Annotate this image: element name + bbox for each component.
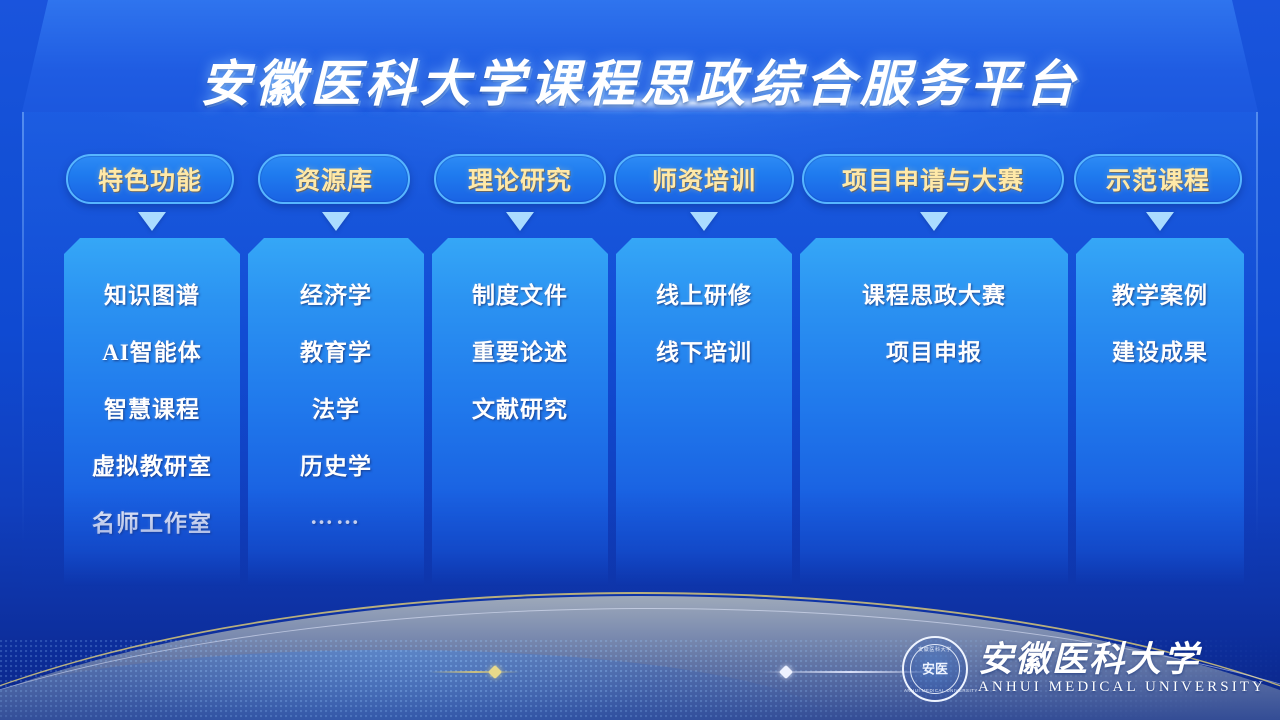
category-card-project-application-competition[interactable]: 课程思政大赛项目申报 bbox=[800, 238, 1068, 586]
diamond-marker-gold bbox=[488, 665, 502, 679]
category-card-teacher-training[interactable]: 线上研修线下培训 bbox=[616, 238, 792, 586]
card-item-list: 教学案例建设成果 bbox=[1076, 276, 1244, 367]
category-card-resource-library[interactable]: 经济学教育学法学历史学…… bbox=[248, 238, 424, 586]
category-card-demonstration-courses[interactable]: 教学案例建设成果 bbox=[1076, 238, 1244, 586]
list-item[interactable]: 线下培训 bbox=[656, 333, 752, 367]
list-item[interactable]: 经济学 bbox=[300, 276, 372, 310]
page-title: 安徽医科大学课程思政综合服务平台 bbox=[0, 44, 1280, 116]
list-item[interactable]: 智慧课程 bbox=[104, 390, 200, 424]
chevron-down-icon bbox=[690, 212, 718, 231]
category-header-demonstration-courses[interactable]: 示范课程 bbox=[1074, 154, 1242, 204]
list-item[interactable]: 教学案例 bbox=[1112, 276, 1208, 310]
logo-name-chinese: 安徽医科大学 bbox=[978, 642, 1266, 678]
list-item[interactable]: 历史学 bbox=[300, 447, 372, 481]
logo-name-english: ANHUI MEDICAL UNIVERSITY bbox=[978, 679, 1266, 696]
diamond-marker-white bbox=[779, 665, 793, 679]
slide-canvas: 安徽医科大学课程思政综合服务平台 特色功能知识图谱AI智能体智慧课程虚拟教研室名… bbox=[0, 0, 1280, 720]
list-item[interactable]: 制度文件 bbox=[472, 276, 568, 310]
list-item[interactable]: AI智能体 bbox=[102, 333, 202, 367]
list-item[interactable]: 名师工作室 bbox=[92, 504, 212, 538]
seal-arc-bottom-text: ANHUI MEDICAL UNIVERSITY bbox=[904, 688, 966, 693]
list-item[interactable]: 课程思政大赛 bbox=[862, 276, 1006, 310]
university-seal-icon: 安徽医科大学 安医 ANHUI MEDICAL UNIVERSITY bbox=[902, 636, 968, 702]
list-item[interactable]: 知识图谱 bbox=[104, 276, 200, 310]
university-logo: 安徽医科大学 安医 ANHUI MEDICAL UNIVERSITY 安徽医科大… bbox=[902, 636, 1266, 702]
list-item[interactable]: 建设成果 bbox=[1112, 333, 1208, 367]
seal-arc-top-text: 安徽医科大学 bbox=[904, 646, 966, 653]
chevron-down-icon bbox=[138, 212, 166, 231]
category-card-theoretical-research[interactable]: 制度文件重要论述文献研究 bbox=[432, 238, 608, 586]
category-header-resource-library[interactable]: 资源库 bbox=[258, 154, 410, 204]
chevron-down-icon bbox=[1146, 212, 1174, 231]
list-item[interactable]: 文献研究 bbox=[472, 390, 568, 424]
horizon-line-gold bbox=[430, 671, 520, 673]
list-item[interactable]: 项目申报 bbox=[886, 333, 982, 367]
seal-center-text: 安医 bbox=[922, 663, 948, 676]
category-header-special-features[interactable]: 特色功能 bbox=[66, 154, 234, 204]
card-item-list: 经济学教育学法学历史学…… bbox=[248, 276, 424, 530]
category-card-special-features[interactable]: 知识图谱AI智能体智慧课程虚拟教研室名师工作室 bbox=[64, 238, 240, 586]
list-item[interactable]: 线上研修 bbox=[656, 276, 752, 310]
chevron-down-icon bbox=[506, 212, 534, 231]
card-item-list: 制度文件重要论述文献研究 bbox=[432, 276, 608, 424]
chevron-down-icon bbox=[322, 212, 350, 231]
chevron-down-icon bbox=[920, 212, 948, 231]
background-wave bbox=[0, 650, 840, 720]
category-header-teacher-training[interactable]: 师资培训 bbox=[614, 154, 794, 204]
list-item[interactable]: 法学 bbox=[312, 390, 360, 424]
card-item-list: 课程思政大赛项目申报 bbox=[800, 276, 1068, 367]
card-item-list: 知识图谱AI智能体智慧课程虚拟教研室名师工作室 bbox=[64, 276, 240, 538]
logo-wordmark: 安徽医科大学 ANHUI MEDICAL UNIVERSITY bbox=[978, 642, 1266, 696]
list-item[interactable]: 虚拟教研室 bbox=[92, 447, 212, 481]
category-header-theoretical-research[interactable]: 理论研究 bbox=[434, 154, 606, 204]
list-item[interactable]: 重要论述 bbox=[472, 333, 568, 367]
list-item[interactable]: …… bbox=[310, 504, 362, 530]
category-header-project-application-competition[interactable]: 项目申请与大赛 bbox=[802, 154, 1064, 204]
list-item[interactable]: 教育学 bbox=[300, 333, 372, 367]
card-item-list: 线上研修线下培训 bbox=[616, 276, 792, 367]
